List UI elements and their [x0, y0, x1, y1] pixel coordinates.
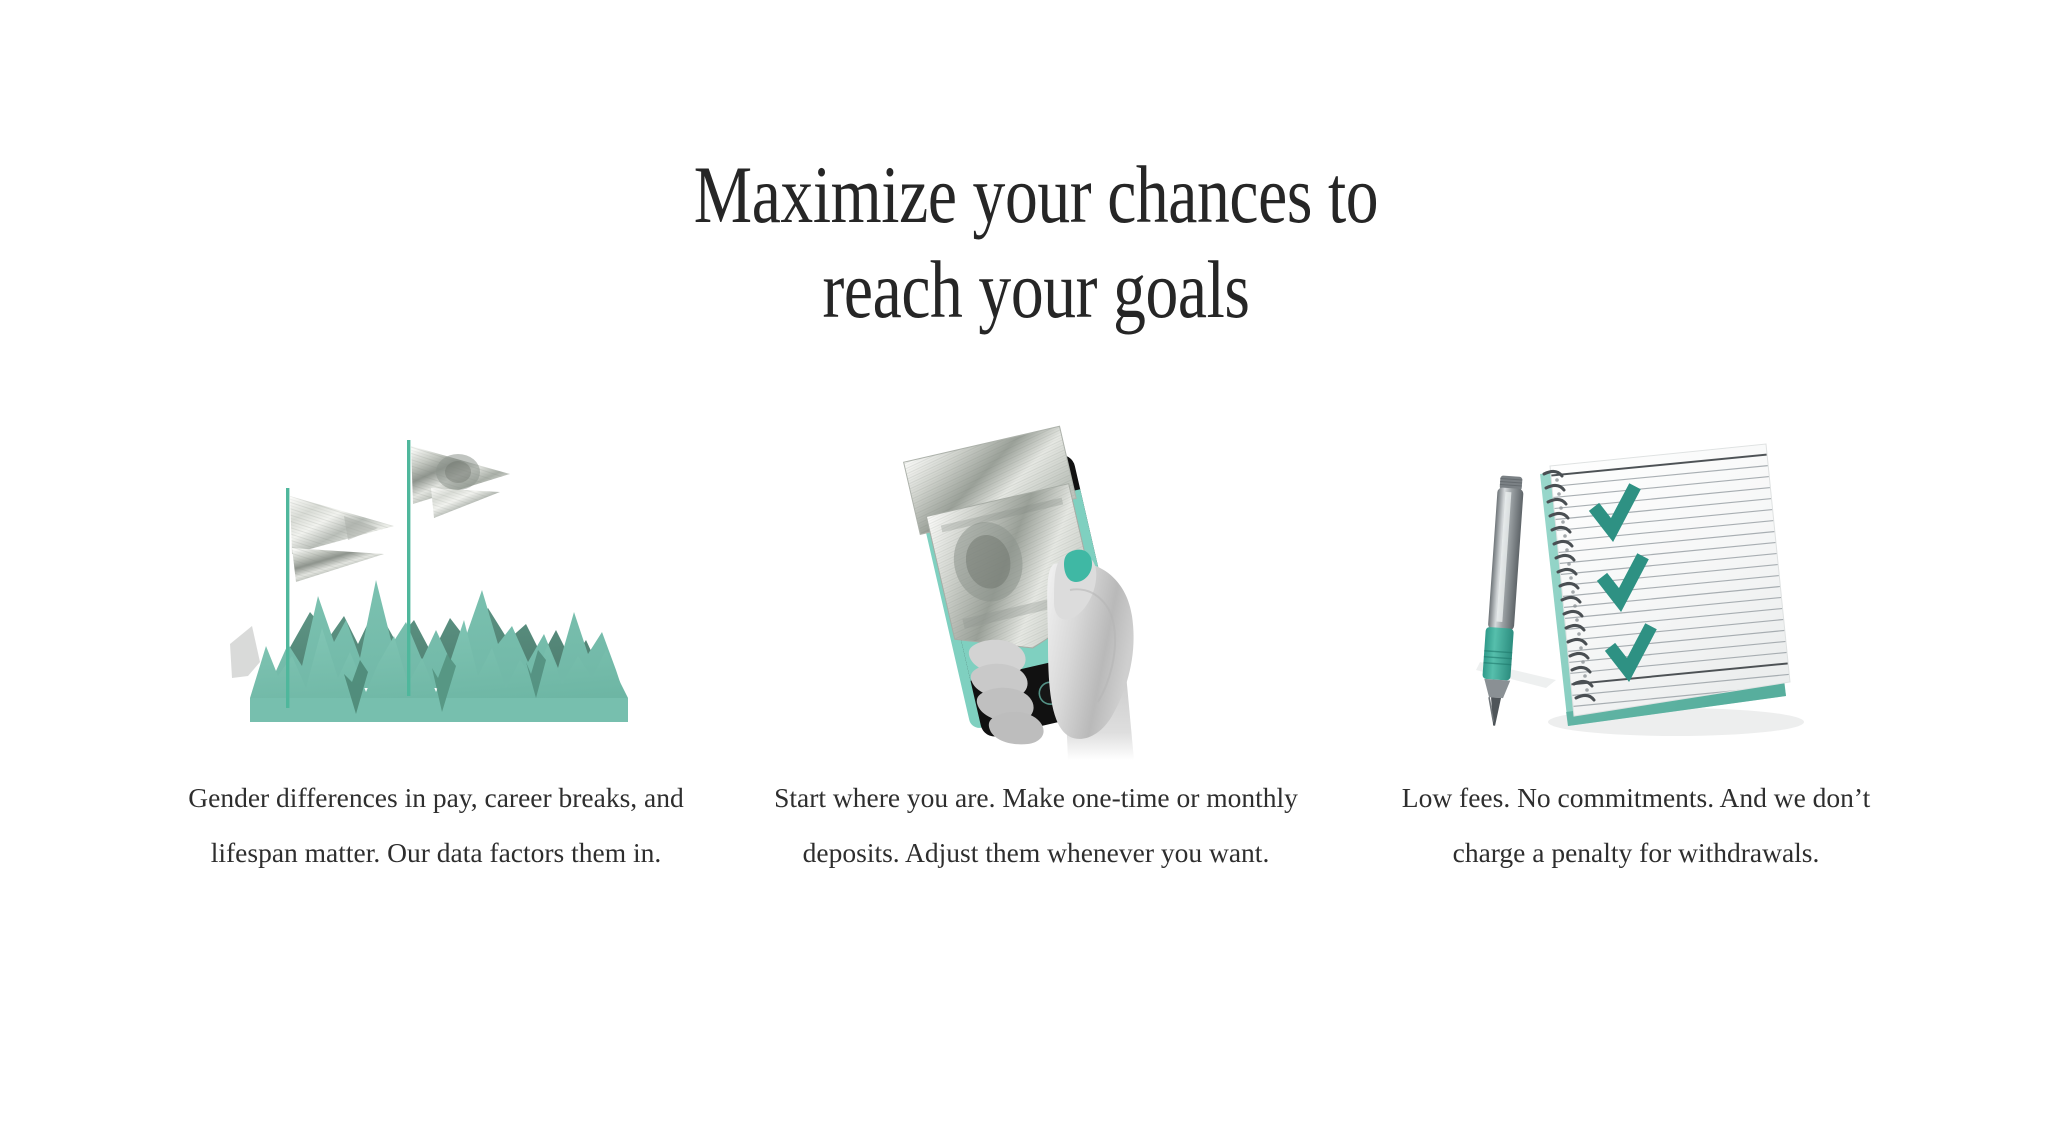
handphone-illustration-svg: [826, 430, 1246, 760]
page-title-line-2: reach your goals: [207, 242, 1865, 337]
notepad-illustration-svg: [1426, 430, 1846, 760]
pen-grip: [1482, 627, 1514, 681]
illustration-notepad-checklist-with-pen: [1426, 430, 1846, 760]
illustration-mountains-with-money-flags: [226, 430, 646, 760]
pen-cone: [1483, 679, 1510, 699]
flag-left-pole: [286, 488, 289, 708]
flag-right-pole: [407, 440, 410, 696]
flag-left-pennant: [290, 496, 394, 582]
feature-deposits: Start where you are. Make one-time or mo…: [736, 430, 1336, 908]
feature-columns: Gender differences in pay, career breaks…: [0, 430, 2072, 908]
feature-caption: Gender differences in pay, career breaks…: [166, 770, 706, 880]
mountain-shadow: [230, 626, 260, 678]
flag-right-pennant: [411, 446, 510, 518]
illustration-hand-holding-phone-with-cash: [826, 430, 1246, 760]
mountains-illustration-svg: [226, 430, 646, 760]
feature-fees: Low fees. No commitments. And we don’t c…: [1336, 430, 1936, 908]
feature-goals: Gender differences in pay, career breaks…: [136, 430, 736, 908]
page-root: Maximize your chances to reach your goal…: [0, 0, 2072, 1138]
feature-caption: Low fees. No commitments. And we don’t c…: [1366, 770, 1906, 880]
page-title-line-1: Maximize your chances to: [207, 147, 1865, 242]
pen: [1479, 475, 1524, 726]
feature-caption: Start where you are. Make one-time or mo…: [766, 770, 1306, 880]
page-title: Maximize your chances to reach your goal…: [207, 147, 1865, 337]
